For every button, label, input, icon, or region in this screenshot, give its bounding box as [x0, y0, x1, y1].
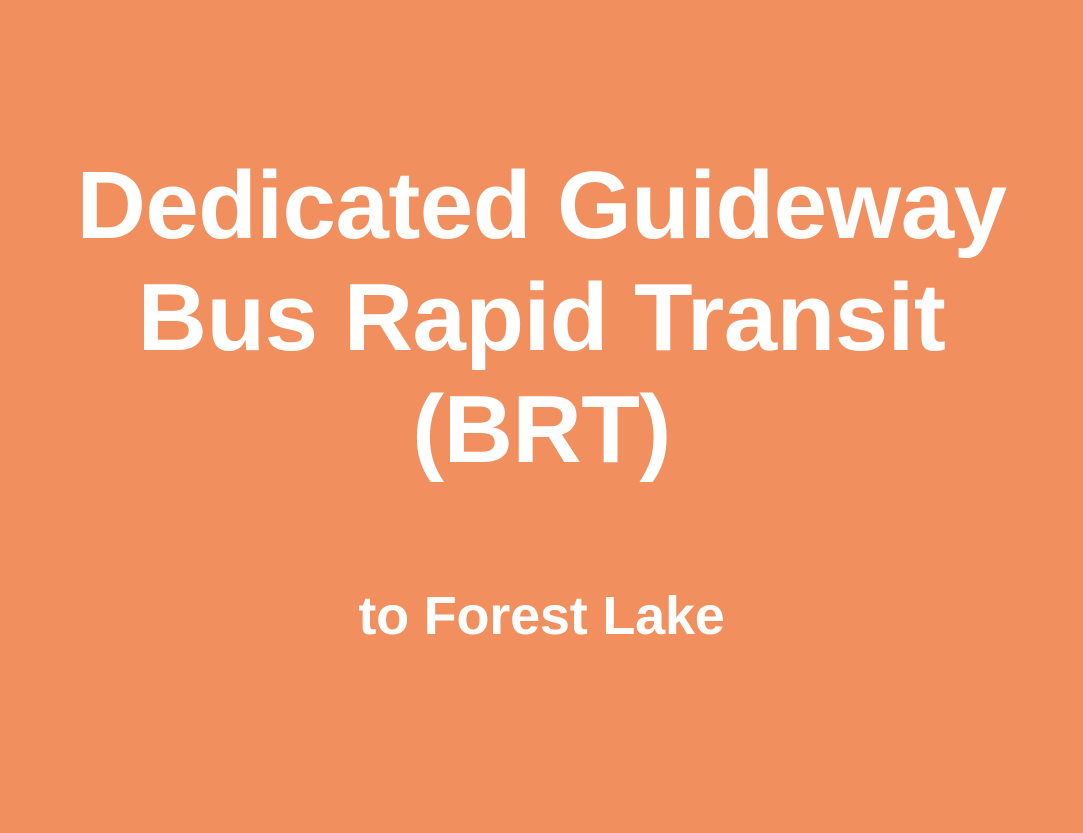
- title-line-2: Bus Rapid Transit: [138, 262, 946, 374]
- page-title: Dedicated Guideway Bus Rapid Transit (BR…: [0, 150, 1083, 486]
- page-subtitle: to Forest Lake: [0, 585, 1083, 647]
- title-line-1: Dedicated Guideway: [77, 150, 1007, 262]
- slide-card: Dedicated Guideway Bus Rapid Transit (BR…: [0, 0, 1083, 833]
- title-line-3: (BRT): [412, 374, 671, 486]
- subtitle-line-1: to Forest Lake: [358, 585, 724, 647]
